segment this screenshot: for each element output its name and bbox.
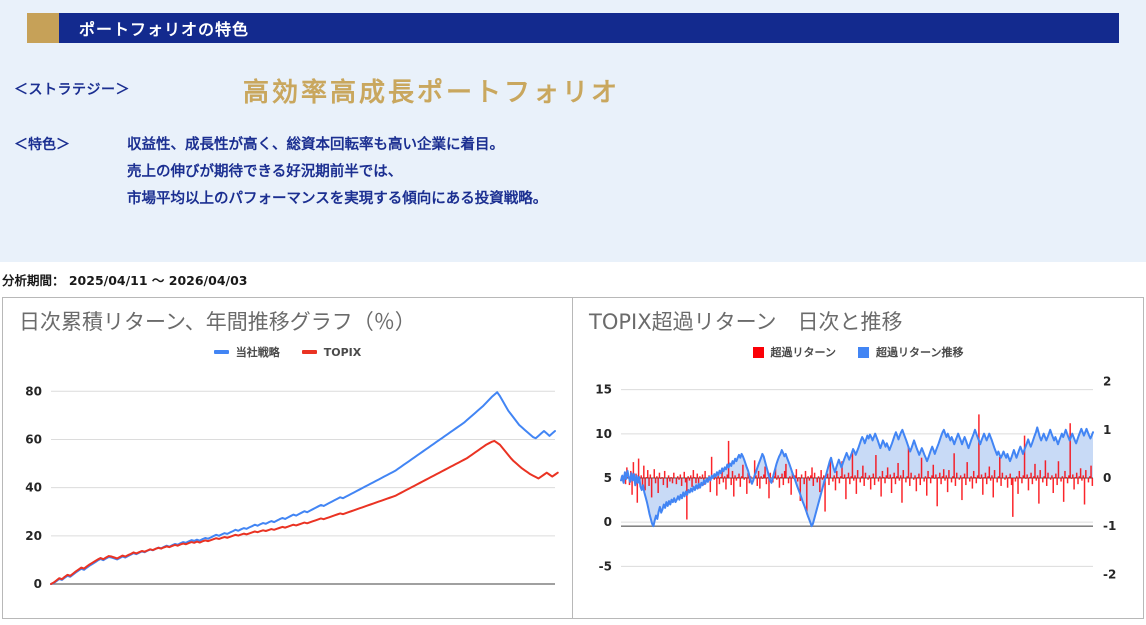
chart-panel-cumulative-return: 日次累積リターン、年間推移グラフ（％） 当社戦略 TOPIX 020406080 bbox=[3, 298, 573, 618]
chart-title-cumulative-return: 日次累積リターン、年間推移グラフ（％） bbox=[19, 306, 416, 336]
legend-item-topix: TOPIX bbox=[302, 346, 362, 359]
banner-title: ポートフォリオの特色 bbox=[59, 16, 249, 40]
legend-excess-return: 超過リターン 超過リターン推移 bbox=[573, 344, 1143, 360]
feature-text-block: 収益性、成長性が高く、総資本回転率も高い企業に着目。 売上の伸びが期待できる好況… bbox=[127, 132, 1027, 213]
svg-text:80: 80 bbox=[25, 384, 42, 398]
portfolio-feature-page: ポートフォリオの特色 ＜ストラテジー＞ 高効率高成長ポートフォリオ ＜特色＞ 収… bbox=[0, 0, 1146, 625]
strategy-label: ＜ストラテジー＞ bbox=[14, 79, 130, 99]
legend-item-excess-return: 超過リターン bbox=[753, 344, 836, 360]
analysis-period: 分析期間： 2025/04/11 ～ 2026/04/03 bbox=[2, 270, 247, 289]
svg-text:10: 10 bbox=[595, 427, 612, 441]
feature-line-1: 収益性、成長性が高く、総資本回転率も高い企業に着目。 bbox=[127, 132, 1027, 159]
charts-container: 日次累積リターン、年間推移グラフ（％） 当社戦略 TOPIX 020406080… bbox=[2, 297, 1144, 619]
strategy-title: 高効率高成長ポートフォリオ bbox=[243, 72, 620, 109]
legend-label-excess-trend: 超過リターン推移 bbox=[876, 344, 963, 360]
legend-swatch-topix-icon bbox=[302, 350, 317, 354]
hero-panel: ポートフォリオの特色 ＜ストラテジー＞ 高効率高成長ポートフォリオ ＜特色＞ 収… bbox=[0, 0, 1146, 262]
svg-text:2: 2 bbox=[1103, 375, 1111, 389]
legend-swatch-strategy-icon bbox=[214, 350, 229, 354]
legend-swatch-excess-trend-icon bbox=[858, 347, 869, 358]
strategy-row: ＜ストラテジー＞ 高効率高成長ポートフォリオ bbox=[0, 72, 1146, 106]
legend-label-strategy: 当社戦略 bbox=[236, 344, 280, 360]
svg-text:-5: -5 bbox=[599, 559, 612, 573]
svg-text:20: 20 bbox=[25, 529, 42, 543]
legend-cumulative-return: 当社戦略 TOPIX bbox=[3, 344, 572, 360]
svg-text:60: 60 bbox=[25, 432, 42, 446]
svg-text:40: 40 bbox=[25, 481, 42, 495]
svg-text:5: 5 bbox=[604, 471, 612, 485]
legend-label-topix: TOPIX bbox=[324, 346, 362, 359]
svg-text:0: 0 bbox=[34, 577, 42, 591]
feature-line-3: 市場平均以上のパフォーマンスを実現する傾向にある投資戦略。 bbox=[127, 186, 1027, 213]
legend-item-strategy: 当社戦略 bbox=[214, 344, 280, 360]
svg-text:1: 1 bbox=[1103, 423, 1111, 437]
feature-label: ＜特色＞ bbox=[14, 134, 70, 154]
banner-bar: ポートフォリオの特色 bbox=[59, 13, 1119, 43]
banner-accent-block bbox=[27, 13, 59, 43]
section-banner: ポートフォリオの特色 bbox=[27, 13, 1119, 43]
legend-label-excess-return: 超過リターン bbox=[771, 344, 836, 360]
plot-excess-return: -5051015-2-1012 bbox=[573, 364, 1143, 616]
svg-text:0: 0 bbox=[604, 515, 612, 529]
svg-text:-1: -1 bbox=[1103, 519, 1116, 533]
legend-swatch-excess-return-icon bbox=[753, 347, 764, 358]
svg-text:15: 15 bbox=[595, 383, 612, 397]
svg-text:0: 0 bbox=[1103, 471, 1111, 485]
chart-panel-excess-return: TOPIX超過リターン 日次と推移 超過リターン 超過リターン推移 -50510… bbox=[573, 298, 1143, 618]
feature-line-2: 売上の伸びが期待できる好況期前半では、 bbox=[127, 159, 1027, 186]
svg-text:-2: -2 bbox=[1103, 567, 1116, 581]
chart-title-excess-return: TOPIX超過リターン 日次と推移 bbox=[589, 306, 903, 336]
plot-cumulative-return: 020406080 bbox=[3, 364, 572, 616]
legend-item-excess-trend: 超過リターン推移 bbox=[858, 344, 963, 360]
